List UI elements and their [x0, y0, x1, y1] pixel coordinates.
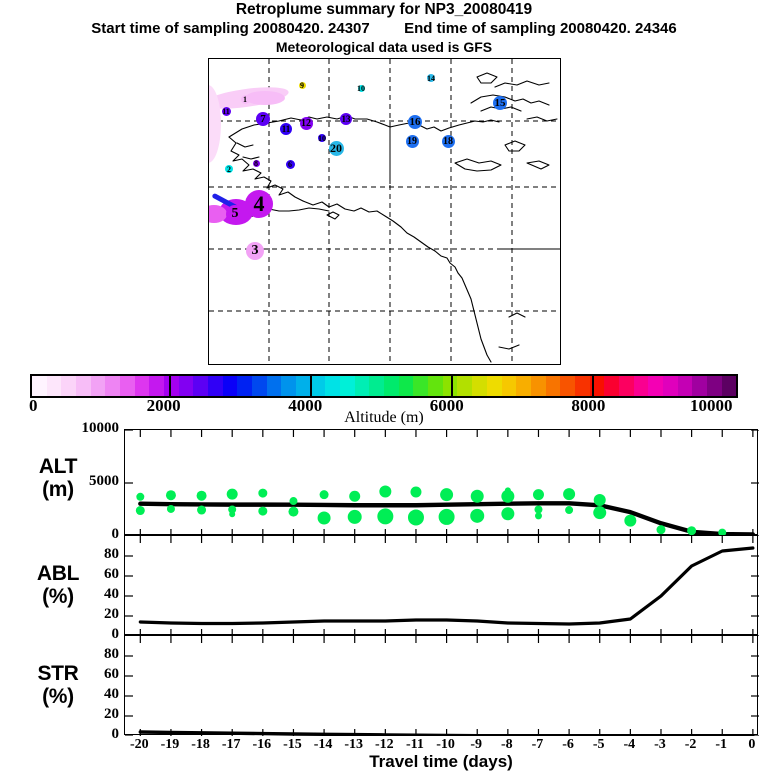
colorbar-swatch: [707, 376, 722, 396]
colorbar-swatch: [355, 376, 370, 396]
map-day-marker-label: 19: [407, 136, 417, 147]
colorbar-swatch: [604, 376, 619, 396]
map-day-marker[interactable]: 18: [442, 135, 455, 148]
alt-y-tick-label: 5000: [0, 473, 119, 490]
alt-scatter-dot: [656, 525, 665, 534]
x-tick-label: -1: [715, 737, 727, 753]
colorbar-swatch: [149, 376, 164, 396]
map-day-marker[interactable]: 9: [299, 82, 306, 89]
map-day-marker-label: 11: [222, 107, 230, 116]
colorbar-sep-4000: [310, 374, 312, 398]
colorbar-swatch: [179, 376, 194, 396]
x-tick-label: -19: [161, 737, 180, 753]
str-y-tick-label: 80: [0, 646, 119, 663]
map-day-marker[interactable]: 14: [427, 74, 435, 82]
altitude-colorbar: [30, 374, 738, 398]
colorbar-swatch: [61, 376, 76, 396]
retroplume-map[interactable]: 111234579861112131010201415161918: [208, 58, 561, 365]
colorbar-swatch: [531, 376, 546, 396]
abl-timeseries-panel[interactable]: [124, 535, 758, 635]
colorbar-swatch: [252, 376, 267, 396]
x-tick-label: 0: [748, 737, 755, 753]
colorbar-swatch: [296, 376, 311, 396]
colorbar-swatch: [692, 376, 707, 396]
colorbar-swatch: [120, 376, 135, 396]
alt-scatter-dot: [349, 491, 360, 502]
alt-scatter-dot: [320, 490, 329, 499]
map-day-marker-label: 7: [260, 113, 266, 125]
map-day-marker[interactable]: 2: [225, 165, 233, 173]
map-day-marker[interactable]: 1: [241, 95, 250, 104]
alt-scatter-dot: [288, 507, 298, 517]
x-tick-label: -17: [222, 737, 241, 753]
alt-scatter-dot: [408, 509, 424, 525]
colorbar-swatch: [428, 376, 443, 396]
alt-scatter-dot: [379, 485, 391, 497]
map-day-marker-label: 20: [330, 141, 342, 156]
map-day-marker[interactable]: 7: [256, 112, 270, 126]
alt-scatter-dot: [348, 510, 362, 524]
end-time-label: End time of sampling 20080420. 24346: [404, 20, 677, 37]
colorbar-swatch: [340, 376, 355, 396]
alt-scatter-dot: [439, 509, 455, 525]
alt-y-tick-label: 0: [0, 526, 119, 543]
alt-scatter-dot: [227, 489, 238, 500]
map-day-marker-label: 10: [318, 134, 326, 143]
map-day-marker[interactable]: 6: [286, 160, 295, 169]
x-tick-label: -8: [501, 737, 513, 753]
alt-scatter-dot: [258, 507, 267, 516]
map-day-marker-label: 13: [342, 114, 351, 124]
map-day-marker-label: 6: [288, 160, 292, 169]
map-day-marker-label: 3: [252, 243, 259, 259]
abl-y-tick-label: 20: [0, 606, 119, 623]
alt-scatter-dot: [687, 526, 696, 535]
str-y-tick-label: 40: [0, 686, 119, 703]
colorbar-swatch: [193, 376, 208, 396]
map-day-marker[interactable]: 10: [318, 134, 326, 142]
colorbar-swatch: [325, 376, 340, 396]
colorbar-swatch: [502, 376, 517, 396]
colorbar-swatch: [560, 376, 575, 396]
map-day-marker-label: 8: [254, 159, 258, 168]
x-tick-label: -16: [252, 737, 271, 753]
map-day-marker[interactable]: 11: [280, 123, 292, 135]
map-day-marker-label: 4: [254, 191, 265, 217]
alt-scatter-dot: [534, 506, 542, 514]
header-block: Retroplume summary for NP3_20080419 Star…: [0, 0, 768, 57]
x-axis-label: Travel time (days): [124, 752, 758, 772]
colorbar-swatch: [32, 376, 47, 396]
map-day-marker-label: 9: [300, 81, 304, 90]
alt-scatter-dot: [533, 489, 544, 500]
x-tick-label: -20: [130, 737, 149, 753]
colorbar-swatch: [105, 376, 120, 396]
alt-scatter-dot: [501, 507, 514, 520]
alt-scatter-dot: [258, 489, 267, 498]
colorbar-swatch: [281, 376, 296, 396]
str-y-tick-label: 60: [0, 666, 119, 683]
colorbar-swatch: [575, 376, 590, 396]
abl-plot: [125, 536, 759, 636]
map-day-marker[interactable]: 8: [253, 160, 260, 167]
colorbar-swatch: [722, 376, 737, 396]
map-day-marker-label: 14: [427, 74, 435, 83]
x-tick-label: -9: [470, 737, 482, 753]
colorbar-gradient: [30, 374, 738, 398]
start-time-label: Start time of sampling 20080420. 24307: [91, 20, 369, 37]
alt-scatter-dot: [501, 490, 514, 503]
str-timeseries-panel[interactable]: [124, 635, 758, 735]
map-day-marker[interactable]: 11: [222, 107, 231, 116]
map-day-marker[interactable]: 13: [340, 113, 352, 125]
colorbar-swatch: [237, 376, 252, 396]
alt-scatter-dot: [136, 493, 144, 501]
alt-scatter-dot: [470, 509, 484, 523]
abl-y-tick-label: 60: [0, 566, 119, 583]
x-tick-label: -3: [654, 737, 666, 753]
alt-plot: [125, 430, 759, 536]
map-day-marker[interactable]: 16: [408, 115, 422, 129]
colorbar-sep-2000: [169, 374, 171, 398]
map-day-marker-label: 10: [357, 84, 365, 93]
colorbar-swatch: [91, 376, 106, 396]
abl-y-tick-label: 40: [0, 586, 119, 603]
alt-scatter-dot: [471, 490, 484, 503]
map-day-marker[interactable]: 12: [300, 117, 313, 130]
alt-scatter-dot: [166, 490, 176, 500]
colorbar-swatch: [267, 376, 282, 396]
x-tick-label: -11: [406, 737, 424, 753]
abl-trend-line: [140, 548, 753, 624]
map-day-marker-label: 16: [410, 116, 421, 128]
abl-y-tick-label: 80: [0, 546, 119, 563]
x-tick-label: -13: [344, 737, 363, 753]
map-day-marker-label: 5: [232, 206, 239, 222]
map-day-marker[interactable]: 19: [406, 135, 419, 148]
map-day-marker[interactable]: 5: [226, 205, 244, 223]
colorbar-swatch: [648, 376, 663, 396]
colorbar-swatch: [546, 376, 561, 396]
alt-scatter-dot: [535, 512, 542, 519]
map-day-marker[interactable]: 10: [358, 85, 365, 92]
colorbar-swatch: [678, 376, 693, 396]
colorbar-swatch: [208, 376, 223, 396]
colorbar-swatch: [135, 376, 150, 396]
x-tick-label: -5: [593, 737, 605, 753]
x-tick-label: -18: [191, 737, 210, 753]
colorbar-swatch: [457, 376, 472, 396]
colorbar-swatch: [76, 376, 91, 396]
x-tick-label: -6: [562, 737, 574, 753]
colorbar-swatch: [663, 376, 678, 396]
colorbar-swatch: [487, 376, 502, 396]
colorbar-swatch: [619, 376, 634, 396]
alt-scatter-dot: [167, 505, 175, 513]
abl-y-tick-label: 0: [0, 626, 119, 643]
map-day-marker[interactable]: 20: [329, 141, 344, 156]
x-tick-label: -10: [436, 737, 455, 753]
map-day-marker[interactable]: 15: [493, 96, 507, 110]
colorbar-swatch: [164, 376, 179, 396]
x-tick-label: -14: [314, 737, 333, 753]
map-day-marker-label: 12: [301, 118, 311, 129]
alt-scatter-dot: [229, 511, 235, 517]
colorbar-swatch: [384, 376, 399, 396]
colorbar-swatch: [634, 376, 649, 396]
alt-scatter-dot: [440, 488, 453, 501]
alt-scatter-dot: [197, 491, 207, 501]
alt-scatter-dot: [563, 488, 575, 500]
x-tick-label: -2: [685, 737, 697, 753]
alt-timeseries-panel[interactable]: [124, 429, 758, 535]
alt-scatter-dot: [594, 494, 606, 506]
x-tick-label: -4: [624, 737, 636, 753]
met-data-label: Meteorological data used is GFS: [0, 38, 768, 57]
x-tick-label: -7: [532, 737, 544, 753]
x-tick-label: -12: [375, 737, 394, 753]
alt-y-tick-label: 10000: [0, 420, 119, 437]
str-y-tick-label: 20: [0, 706, 119, 723]
colorbar-swatch: [399, 376, 414, 396]
colorbar-swatch: [472, 376, 487, 396]
colorbar-swatch: [311, 376, 326, 396]
map-day-marker-label: 11: [282, 124, 291, 134]
alt-scatter-dot: [136, 506, 145, 515]
colorbar-swatch: [516, 376, 531, 396]
map-day-marker-label: 15: [495, 97, 506, 109]
x-tick-label: -15: [283, 737, 302, 753]
colorbar-sep-8000: [592, 374, 594, 398]
str-plot: [125, 636, 759, 736]
colorbar-swatch: [369, 376, 384, 396]
map-day-marker-label: 1: [243, 95, 247, 104]
alt-scatter-dot: [289, 497, 297, 505]
map-day-marker-label: 18: [443, 136, 453, 147]
alt-scatter-dot: [593, 506, 606, 519]
alt-scatter-dot: [565, 506, 573, 514]
alt-scatter-dot: [624, 515, 636, 527]
colorbar-swatch: [413, 376, 428, 396]
plume-halo-3: [245, 91, 285, 105]
colorbar-sep-6000: [451, 374, 453, 398]
alt-scatter-dot: [197, 506, 206, 515]
colorbar-swatch: [47, 376, 62, 396]
map-day-marker[interactable]: 3: [246, 242, 264, 260]
alt-scatter-dot: [410, 487, 421, 498]
colorbar-swatch: [223, 376, 238, 396]
sampling-time-line: Start time of sampling 20080420. 24307 E…: [0, 19, 768, 38]
alt-scatter-dot: [318, 511, 331, 524]
page-title: Retroplume summary for NP3_20080419: [0, 0, 768, 19]
map-day-marker[interactable]: 4: [245, 190, 273, 218]
alt-scatter-dot: [377, 508, 393, 524]
map-day-marker-label: 2: [227, 165, 231, 174]
